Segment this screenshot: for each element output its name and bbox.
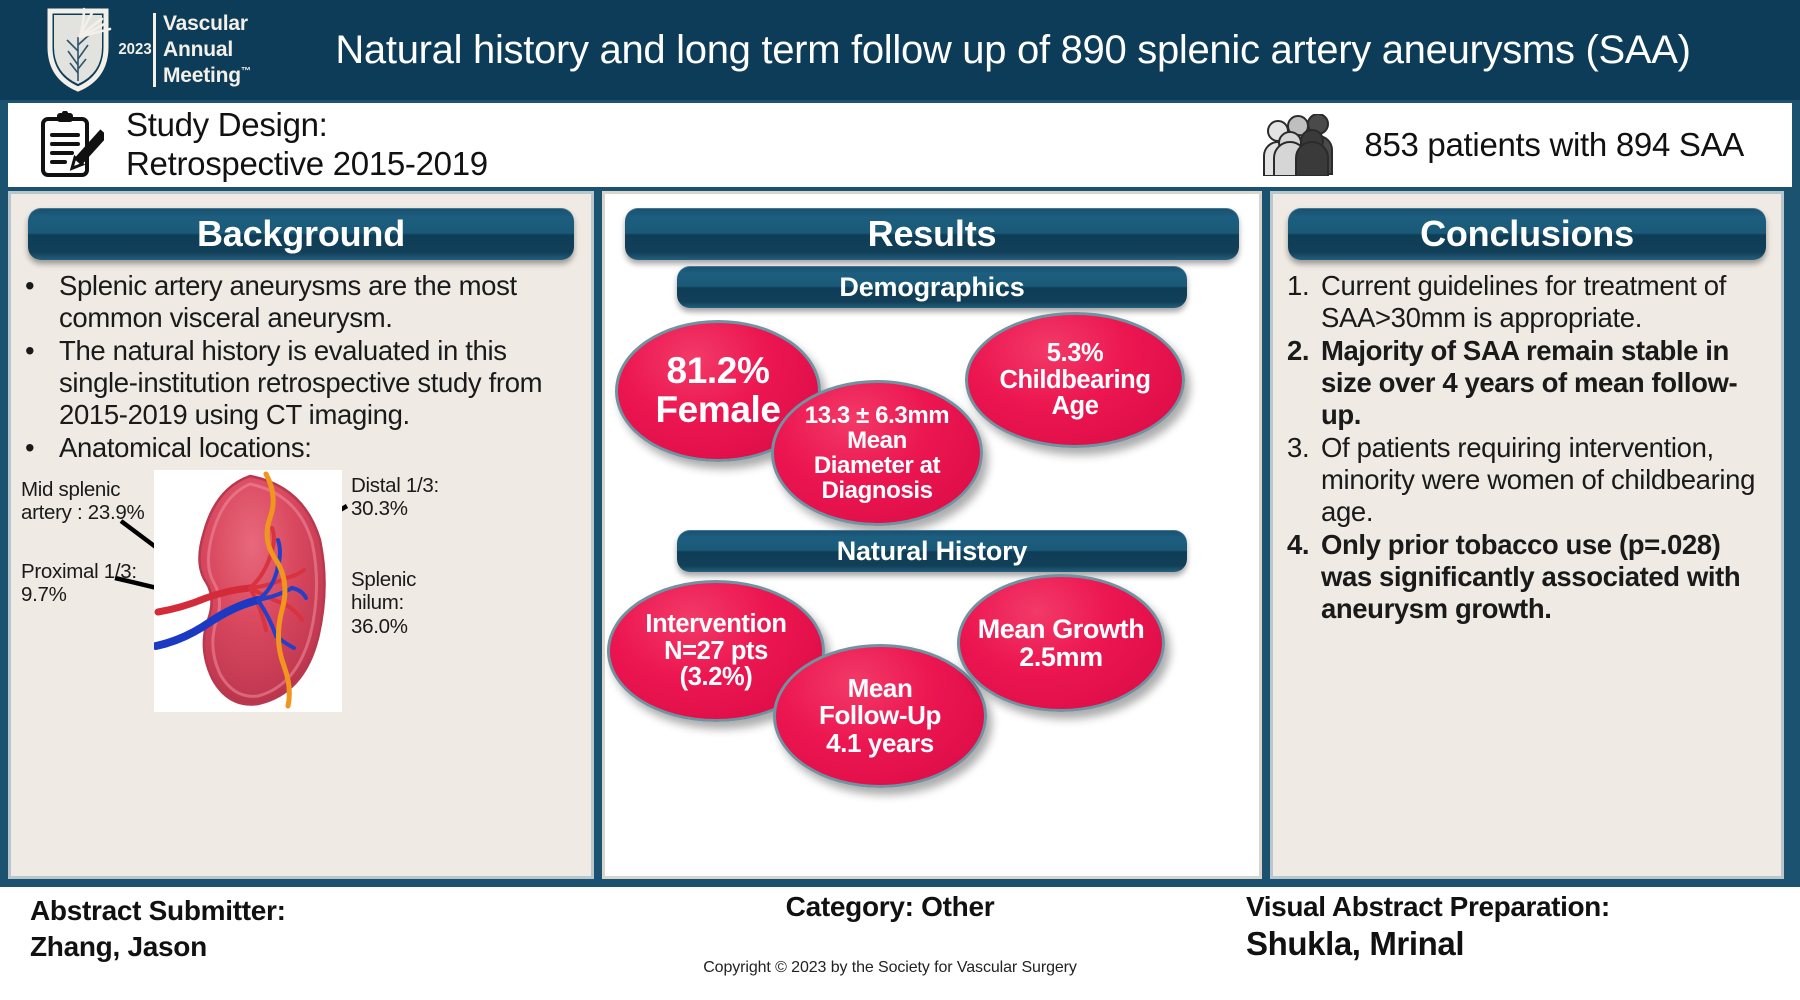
poster-footer: Abstract Submitter: Zhang, Jason Categor… <box>0 887 1800 1000</box>
list-item: • The natural history is evaluated in th… <box>11 335 591 431</box>
page-title: Natural history and long term follow up … <box>250 28 1800 73</box>
childbearing-age-value: 5.3% <box>968 340 1182 367</box>
conclusion-text: Of patients requiring intervention, mino… <box>1321 432 1781 528</box>
study-design-label: Study Design: <box>126 106 488 145</box>
conclusions-panel: Conclusions 1. Current guidelines for tr… <box>1270 191 1784 879</box>
proximal-third-label: Proximal 1/3: 9.7% <box>21 560 141 606</box>
list-marker: 4. <box>1273 529 1321 625</box>
distal-third-label: Distal 1/3: 30.3% <box>351 474 481 520</box>
logo-line-2: Annual <box>163 37 251 63</box>
childbearing-age-label-2: Age <box>968 393 1182 420</box>
mid-splenic-artery-label: Mid splenic artery : 23.9% <box>21 478 149 524</box>
bullet-marker: • <box>11 335 59 431</box>
mean-followup-bubble: Mean Follow-Up 4.1 years <box>773 644 987 788</box>
vascular-v-logo-icon <box>40 7 120 93</box>
childbearing-age-label-1: Childbearing <box>968 367 1182 394</box>
background-bullet-list: • Splenic artery aneurysms are the most … <box>11 270 591 464</box>
logo-line-3: Meeting™ <box>163 63 251 89</box>
demographics-bubbles: 81.2% Female 13.3 ± 6.3mm Mean Diameter … <box>605 308 1259 530</box>
spleen-figure: Mid splenic artery : 23.9% Proximal 1/3:… <box>11 468 594 714</box>
abstract-submitter-block: Abstract Submitter: Zhang, Jason <box>30 893 550 965</box>
visual-abstract-poster: 2023 Vascular Annual Meeting™ Natural hi… <box>0 0 1800 1000</box>
list-item: 4. Only prior tobacco use (p=.028) was s… <box>1273 529 1781 625</box>
logo-divider <box>153 13 156 87</box>
female-percentage-value: 81.2% <box>618 352 818 391</box>
list-marker: 3. <box>1273 432 1321 528</box>
clipboard-pencil-icon <box>38 111 104 179</box>
list-item: 3. Of patients requiring intervention, m… <box>1273 432 1781 528</box>
results-panel: Results Demographics 81.2% Female 13.3 ±… <box>602 191 1262 879</box>
mean-diameter-bubble: 13.3 ± 6.3mm Mean Diameter at Diagnosis <box>771 380 983 526</box>
list-item: • Anatomical locations: <box>11 432 591 464</box>
vascular-annual-meeting-logo: 2023 Vascular Annual Meeting™ <box>0 2 250 98</box>
intervention-label: Intervention <box>610 611 822 638</box>
abstract-submitter-name: Zhang, Jason <box>30 929 550 965</box>
list-marker: 2. <box>1273 335 1321 431</box>
mean-growth-bubble: Mean Growth 2.5mm <box>957 574 1165 712</box>
poster-title-bar: 2023 Vascular Annual Meeting™ Natural hi… <box>0 0 1800 100</box>
study-design-text: Study Design: Retrospective 2015-2019 <box>126 106 488 184</box>
background-panel: Background • Splenic artery aneurysms ar… <box>8 191 594 879</box>
spleen-anatomy-illustration <box>154 470 342 712</box>
people-group-icon <box>1260 114 1346 176</box>
natural-history-bubbles: Intervention N=27 pts (3.2%) Mean Follow… <box>605 572 1259 802</box>
bullet-marker: • <box>11 270 59 334</box>
bullet-text: Splenic artery aneurysms are the most co… <box>59 270 591 334</box>
conclusions-heading: Conclusions <box>1288 208 1766 260</box>
conclusion-text: Current guidelines for treatment of SAA>… <box>1321 270 1781 334</box>
preparation-name: Shukla, Mrinal <box>1246 925 1786 963</box>
study-design-strip: Study Design: Retrospective 2015-2019 <box>8 103 1792 187</box>
conclusion-text: Majority of SAA remain stable in size ov… <box>1321 335 1781 431</box>
childbearing-age-bubble: 5.3% Childbearing Age <box>965 312 1185 448</box>
mean-diameter-label-2: Diameter at <box>774 453 980 478</box>
trademark-mark: ™ <box>241 66 251 77</box>
background-heading: Background <box>28 208 573 260</box>
category-label: Category: Other <box>560 891 1220 923</box>
mean-growth-value: 2.5mm <box>960 643 1162 671</box>
bullet-text: Anatomical locations: <box>59 432 591 464</box>
demographics-heading: Demographics <box>677 266 1187 308</box>
logo-year-text: 2023 <box>118 40 151 60</box>
visual-abstract-preparation-block: Visual Abstract Preparation: Shukla, Mri… <box>1206 891 1786 963</box>
conclusion-text: Only prior tobacco use (p=.028) was sign… <box>1321 529 1781 625</box>
logo-year: 2023 <box>124 11 146 89</box>
bullet-text: The natural history is evaluated in this… <box>59 335 591 431</box>
mean-followup-label-1: Mean <box>776 675 984 702</box>
mean-growth-label: Mean Growth <box>960 615 1162 643</box>
abstract-submitter-label: Abstract Submitter: <box>30 893 550 929</box>
logo-wordmark: Vascular Annual Meeting™ <box>163 11 251 88</box>
footer-center-block: Category: Other Copyright © 2023 by the … <box>560 891 1220 977</box>
study-design-value: Retrospective 2015-2019 <box>126 145 488 184</box>
list-item: • Splenic artery aneurysms are the most … <box>11 270 591 334</box>
poster-body-columns: Background • Splenic artery aneurysms ar… <box>8 191 1792 879</box>
splenic-hilum-label: Splenic hilum: 36.0% <box>351 568 461 637</box>
list-marker: 1. <box>1273 270 1321 334</box>
results-heading: Results <box>625 208 1240 260</box>
mean-followup-value: 4.1 years <box>776 730 984 757</box>
intervention-count: N=27 pts <box>610 638 822 665</box>
bullet-marker: • <box>11 432 59 464</box>
mean-diameter-value: 13.3 ± 6.3mm <box>774 403 980 428</box>
logo-line-1: Vascular <box>163 11 251 37</box>
list-item: 1. Current guidelines for treatment of S… <box>1273 270 1781 334</box>
mean-diameter-label-1: Mean <box>774 428 980 453</box>
conclusions-list: 1. Current guidelines for treatment of S… <box>1273 270 1781 625</box>
natural-history-heading: Natural History <box>677 530 1187 572</box>
patient-count-block: 853 patients with 894 SAA <box>1260 114 1792 176</box>
mean-followup-label-2: Follow-Up <box>776 702 984 729</box>
copyright-notice: Copyright © 2023 by the Society for Vasc… <box>560 959 1220 977</box>
preparation-label: Visual Abstract Preparation: <box>1246 891 1786 923</box>
mean-diameter-label-3: Diagnosis <box>774 478 980 503</box>
patient-count-text: 853 patients with 894 SAA <box>1364 126 1744 164</box>
list-item: 2. Majority of SAA remain stable in size… <box>1273 335 1781 431</box>
